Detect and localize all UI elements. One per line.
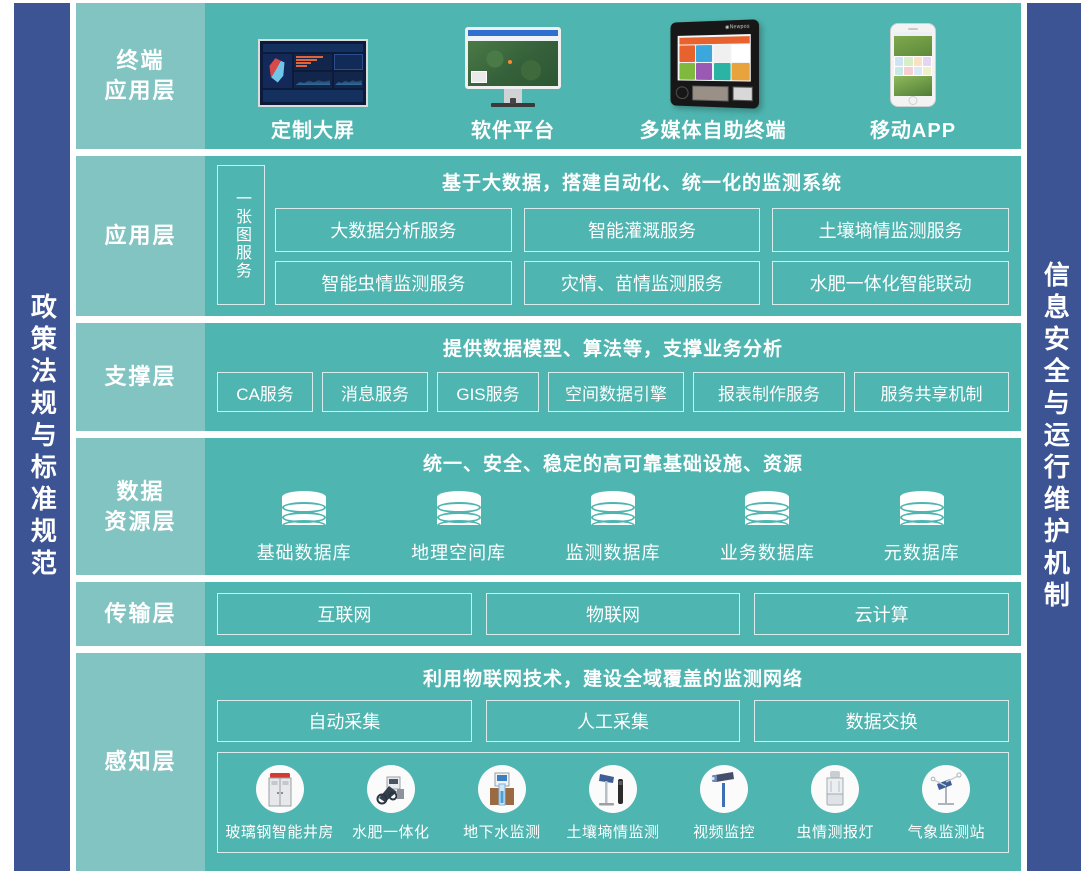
groundwater-sensor-icon [478,765,526,813]
support-box[interactable]: 报表制作服务 [693,372,845,412]
sidebar-information-security: 信息安全与运行维护机制 [1027,3,1081,871]
database-cylinder-icon [745,491,789,531]
sensing-device-item[interactable]: 土壤墒情监测 [561,765,665,842]
service-box[interactable]: 智能虫情监测服务 [275,261,512,305]
sensing-device-caption: 气象监测站 [908,821,986,842]
layer-support-heading: 提供数据模型、算法等，支撑业务分析 [217,334,1009,361]
layer-sensing-label: 感知层 [104,747,176,777]
layer-sensing-body: 利用物联网技术，建设全域覆盖的监测网络 自动采集 人工采集 数据交换 [205,653,1021,871]
layer-sensing-label-cell: 感知层 [76,653,205,871]
layer-sensing: 感知层 利用物联网技术，建设全域覆盖的监测网络 自动采集 人工采集 数据交换 [76,653,1021,871]
layer-transmission-label: 传输层 [104,599,176,629]
layer-support: 支撑层 提供数据模型、算法等，支撑业务分析 CA服务 消息服务 GIS服务 空间… [76,323,1021,431]
sensing-device-caption: 土壤墒情监测 [566,821,659,842]
big-screen-display-icon [258,39,368,107]
layer-support-label: 支撑层 [104,362,176,392]
terminal-item[interactable]: 移动APP [813,23,1013,143]
layer-terminal-label: 终端 应用层 [104,46,176,105]
service-box[interactable]: 灾情、苗情监测服务 [524,261,761,305]
support-box[interactable]: 服务共享机制 [854,372,1009,412]
transmission-box[interactable]: 云计算 [754,593,1009,635]
database-cylinder-icon [591,491,635,531]
layer-terminal: 终端 应用层 [76,3,1021,149]
layer-application: 应用层 一张图服务 基于大数据，搭建自动化、统一化的监测系统 大数据分析服务 智… [76,156,1021,316]
layer-data-resource-heading: 统一、安全、稳定的高可靠基础设施、资源 [217,449,1009,476]
sensing-method-box[interactable]: 人工采集 [486,700,741,742]
database-item[interactable]: 业务数据库 [692,491,842,565]
layer-terminal-label-cell: 终端 应用层 [76,3,205,149]
layer-support-label-cell: 支撑层 [76,323,205,431]
fertigation-machine-icon [367,765,415,813]
layer-application-body: 一张图服务 基于大数据，搭建自动化、统一化的监测系统 大数据分析服务 智能灌溉服… [205,156,1021,316]
support-box[interactable]: GIS服务 [437,372,539,412]
service-box[interactable]: 水肥一体化智能联动 [772,261,1009,305]
support-box[interactable]: CA服务 [217,372,313,412]
database-label: 元数据库 [884,539,960,565]
sensing-device-caption: 虫情测报灯 [797,821,875,842]
layer-transmission-label-cell: 传输层 [76,582,205,646]
sensing-device-item[interactable]: 虫情测报灯 [783,765,887,842]
support-service-row: CA服务 消息服务 GIS服务 空间数据引擎 报表制作服务 服务共享机制 [217,372,1009,412]
cctv-camera-icon [700,765,748,813]
terminal-caption: 软件平台 [471,114,555,143]
layer-application-heading: 基于大数据，搭建自动化、统一化的监测系统 [275,168,1009,195]
sensing-device-caption: 玻璃钢智能井房 [225,821,334,842]
layer-sensing-heading: 利用物联网技术，建设全域覆盖的监测网络 [217,664,1009,691]
terminal-item[interactable]: 定制大屏 [213,39,413,143]
layer-support-body: 提供数据模型、算法等，支撑业务分析 CA服务 消息服务 GIS服务 空间数据引擎… [205,323,1021,431]
terminal-caption: 多媒体自助终端 [640,114,787,143]
sensing-device-item[interactable]: 地下水监测 [450,765,554,842]
terminal-caption: 定制大屏 [271,114,355,143]
weather-station-icon [922,765,970,813]
database-item[interactable]: 基础数据库 [229,491,379,565]
architecture-diagram: 政策法规与标准规范 终端 应用层 [0,0,1081,874]
database-label: 地理空间库 [411,539,506,565]
service-box[interactable]: 大数据分析服务 [275,208,512,252]
sensing-device-caption: 地下水监测 [463,821,541,842]
layer-transmission: 传输层 互联网 物联网 云计算 [76,582,1021,646]
sensing-device-panel: 玻璃钢智能井房 [217,752,1009,853]
sensing-device-item[interactable]: 玻璃钢智能井房 [228,765,332,842]
application-service-grid: 大数据分析服务 智能灌溉服务 土壤墒情监测服务 智能虫情监测服务 灾情、苗情监测… [275,208,1009,305]
layer-data-resource-label: 数据 资源层 [104,477,176,536]
application-services-area: 基于大数据，搭建自动化、统一化的监测系统 大数据分析服务 智能灌溉服务 土壤墒情… [275,165,1009,305]
database-label: 监测数据库 [565,539,660,565]
sensing-device-item[interactable]: 视频监控 [672,765,776,842]
support-box[interactable]: 消息服务 [322,372,428,412]
sidebar-policy-standards: 政策法规与标准规范 [14,3,70,871]
sidebar-right-label: 信息安全与运行维护机制 [1040,261,1071,613]
transmission-item-row: 互联网 物联网 云计算 [217,593,1009,635]
sensing-device-item[interactable]: 气象监测站 [894,765,998,842]
database-cylinder-icon [437,491,481,531]
desktop-monitor-icon [465,27,561,107]
one-map-service-box[interactable]: 一张图服务 [217,165,265,305]
database-item[interactable]: 地理空间库 [384,491,534,565]
layer-application-label: 应用层 [104,221,176,251]
service-box[interactable]: 智能灌溉服务 [524,208,761,252]
database-cylinder-icon [282,491,326,531]
sensing-device-caption: 视频监控 [693,821,755,842]
smartphone-icon [890,23,936,107]
terminal-item-row: 定制大屏 软件平台 [213,7,1013,143]
layer-data-resource-label-cell: 数据 资源层 [76,438,205,575]
service-box[interactable]: 土壤墒情监测服务 [772,208,1009,252]
layer-transmission-body: 互联网 物联网 云计算 [205,582,1021,646]
soil-moisture-station-icon [589,765,637,813]
transmission-box[interactable]: 物联网 [486,593,741,635]
layer-application-label-cell: 应用层 [76,156,205,316]
layer-stack: 终端 应用层 [70,0,1027,874]
database-label: 基础数据库 [257,539,352,565]
self-service-kiosk-icon: ◉Newpos [667,21,759,107]
sensing-method-box[interactable]: 数据交换 [754,700,1009,742]
layer-terminal-body: 定制大屏 软件平台 [205,3,1021,149]
database-cylinder-icon [900,491,944,531]
terminal-caption: 移动APP [870,114,956,143]
database-row: 基础数据库 地理空间库 [217,491,1009,565]
sensing-method-row: 自动采集 人工采集 数据交换 [217,700,1009,742]
sidebar-left-label: 政策法规与标准规范 [27,293,58,581]
sensing-method-box[interactable]: 自动采集 [217,700,472,742]
database-label: 业务数据库 [720,539,815,565]
layer-data-resource: 数据 资源层 统一、安全、稳定的高可靠基础设施、资源 基础数据库 [76,438,1021,575]
sensing-device-item[interactable]: 水肥一体化 [339,765,443,842]
support-box[interactable]: 空间数据引擎 [548,372,684,412]
database-item[interactable]: 元数据库 [847,491,997,565]
transmission-box[interactable]: 互联网 [217,593,472,635]
terminal-item[interactable]: 软件平台 [413,27,613,143]
insect-trap-lamp-icon [811,765,859,813]
well-house-cabinet-icon [256,765,304,813]
sensing-device-caption: 水肥一体化 [352,821,430,842]
database-item[interactable]: 监测数据库 [538,491,688,565]
layer-data-resource-body: 统一、安全、稳定的高可靠基础设施、资源 基础数据库 [205,438,1021,575]
terminal-item[interactable]: ◉Newpos [613,21,813,143]
